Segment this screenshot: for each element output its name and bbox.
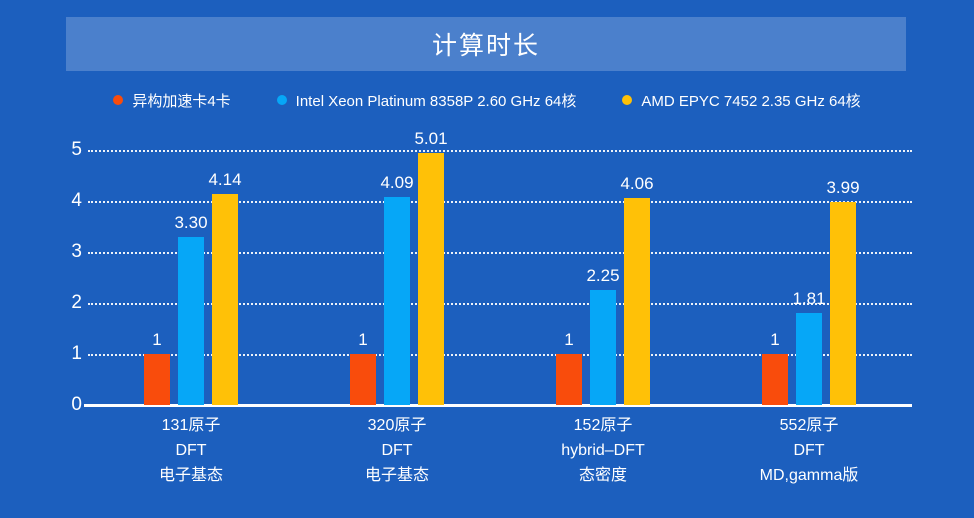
- bar-value-label: 4.14: [208, 171, 241, 188]
- bar-value-label: 5.01: [414, 130, 447, 147]
- bar-value-label: 1: [564, 331, 573, 348]
- x-axis-category-line: DFT: [706, 438, 912, 463]
- x-axis-category-line: 态密度: [500, 463, 706, 488]
- x-axis-category-label: 131原子DFT电子基态: [88, 413, 294, 488]
- y-axis: 012345: [46, 130, 82, 405]
- chart-plot-area: 012345 13.304.1414.095.0112.254.0611.813…: [0, 130, 974, 518]
- x-axis-category-line: MD,gamma版: [706, 463, 912, 488]
- bar-value-label: 1.81: [792, 290, 825, 307]
- bar-item[interactable]: 1: [762, 130, 788, 405]
- x-axis-category-line: DFT: [88, 438, 294, 463]
- bar-rect[interactable]: [830, 202, 856, 405]
- x-axis-category-line: 电子基态: [88, 463, 294, 488]
- bar-group: 13.304.14: [88, 130, 294, 405]
- bar-group: 11.813.99: [706, 130, 912, 405]
- x-axis-category-line: 电子基态: [294, 463, 500, 488]
- bar-rect[interactable]: [590, 290, 616, 405]
- x-axis: 131原子DFT电子基态320原子DFT电子基态152原子hybrid–DFT态…: [88, 413, 912, 488]
- bar-value-label: 4.06: [620, 175, 653, 192]
- legend-item-label: AMD EPYC 7452 2.35 GHz 64核: [641, 90, 860, 111]
- legend-item[interactable]: AMD EPYC 7452 2.35 GHz 64核: [622, 90, 860, 111]
- bar-item[interactable]: 5.01: [418, 130, 444, 405]
- y-axis-tick-label: 2: [46, 292, 82, 314]
- circle-dot-icon: [277, 95, 287, 105]
- bar-item[interactable]: 3.99: [830, 130, 856, 405]
- y-axis-tick-label: 4: [46, 190, 82, 212]
- x-axis-category-line: 552原子: [706, 413, 912, 438]
- bar-rect[interactable]: [624, 198, 650, 405]
- bar-rect[interactable]: [350, 354, 376, 405]
- bar-rect[interactable]: [418, 153, 444, 405]
- bar-rect[interactable]: [212, 194, 238, 405]
- bar-rect[interactable]: [556, 354, 582, 405]
- bar-item[interactable]: 4.06: [624, 130, 650, 405]
- x-axis-category-line: hybrid–DFT: [500, 438, 706, 463]
- bar-rect[interactable]: [762, 354, 788, 405]
- bar-item[interactable]: 1: [350, 130, 376, 405]
- bar-item[interactable]: 2.25: [590, 130, 616, 405]
- bar-group: 12.254.06: [500, 130, 706, 405]
- bar-item[interactable]: 1: [556, 130, 582, 405]
- legend-item-label: Intel Xeon Platinum 8358P 2.60 GHz 64核: [296, 90, 577, 111]
- bar-value-label: 3.99: [826, 179, 859, 196]
- x-axis-category-label: 552原子DFTMD,gamma版: [706, 413, 912, 488]
- bar-group: 14.095.01: [294, 130, 500, 405]
- bar-rect[interactable]: [384, 197, 410, 405]
- x-axis-category-line: 152原子: [500, 413, 706, 438]
- bar-rect[interactable]: [144, 354, 170, 405]
- bar-item[interactable]: 4.09: [384, 130, 410, 405]
- legend-item-label: 异构加速卡4卡: [132, 90, 230, 111]
- x-axis-category-label: 320原子DFT电子基态: [294, 413, 500, 488]
- x-axis-category-line: 320原子: [294, 413, 500, 438]
- bar-item[interactable]: 4.14: [212, 130, 238, 405]
- bar-value-label: 4.09: [380, 174, 413, 191]
- x-axis-category-line: DFT: [294, 438, 500, 463]
- bar-item[interactable]: 1.81: [796, 130, 822, 405]
- page-title: 计算时长: [432, 26, 540, 62]
- bar-value-label: 1: [152, 331, 161, 348]
- y-axis-tick-label: 3: [46, 241, 82, 263]
- bar-value-label: 3.30: [174, 214, 207, 231]
- legend-item[interactable]: 异构加速卡4卡: [113, 90, 230, 111]
- bar-rect[interactable]: [178, 237, 204, 405]
- x-axis-category-line: 131原子: [88, 413, 294, 438]
- bar-item[interactable]: 1: [144, 130, 170, 405]
- bar-groups: 13.304.1414.095.0112.254.0611.813.99: [88, 130, 912, 405]
- bar-value-label: 2.25: [586, 267, 619, 284]
- legend-item[interactable]: Intel Xeon Platinum 8358P 2.60 GHz 64核: [277, 90, 577, 111]
- bar-value-label: 1: [770, 331, 779, 348]
- bar-value-label: 1: [358, 331, 367, 348]
- title-banner: 计算时长: [66, 17, 906, 71]
- y-axis-tick-label: 0: [46, 394, 82, 416]
- bar-rect[interactable]: [796, 313, 822, 405]
- circle-dot-icon: [622, 95, 632, 105]
- x-axis-category-label: 152原子hybrid–DFT态密度: [500, 413, 706, 488]
- chart-legend: 异构加速卡4卡Intel Xeon Platinum 8358P 2.60 GH…: [0, 88, 974, 112]
- y-axis-tick-label: 1: [46, 343, 82, 365]
- y-axis-tick-label: 5: [46, 139, 82, 161]
- circle-dot-icon: [113, 95, 123, 105]
- bar-item[interactable]: 3.30: [178, 130, 204, 405]
